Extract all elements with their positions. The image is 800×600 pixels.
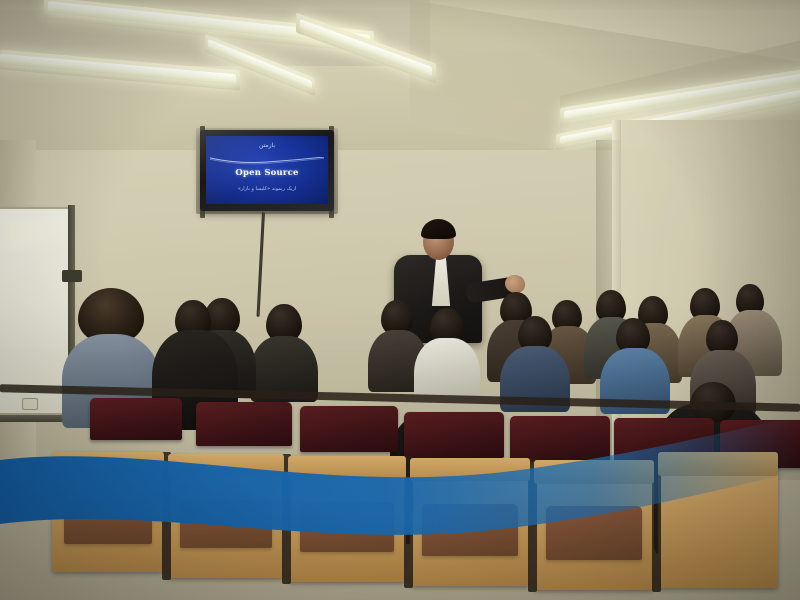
slide-subtitle-fa: اریک ریموند «کلیسا و بازار» [206,186,328,192]
chair-seat-back [90,398,182,440]
chair-top-slat [658,452,778,476]
chair-top-slat [410,458,530,481]
chair-inner-panel [180,500,272,548]
chair-seat-back [300,406,398,452]
chair-inner-panel [300,502,394,552]
chair-top-slat [168,454,284,476]
audience-body [414,338,480,402]
slide-title-fa: بازمتن [206,142,328,149]
speaker-hand [505,275,525,293]
whiteboard-clamp [62,270,82,282]
chair-seat-back [196,402,292,446]
chair-seat-back [404,412,504,458]
slide-headline: Open Source [206,168,328,178]
lcd-screen: بازمتن Open Source اریک ریموند «کلیسا و … [206,136,328,204]
chair-inner-panel [64,498,152,544]
chair-seat-back [510,416,610,462]
chair-inner-panel [422,504,518,556]
chair-inner-panel [546,506,642,560]
slide-divider-icon [210,157,324,165]
chair-top-slat [534,460,654,484]
chair-top-slat [288,456,406,479]
photo-canvas: بازمتن Open Source اریک ریموند «کلیسا و … [0,0,800,600]
chair-top-slat [52,452,164,474]
